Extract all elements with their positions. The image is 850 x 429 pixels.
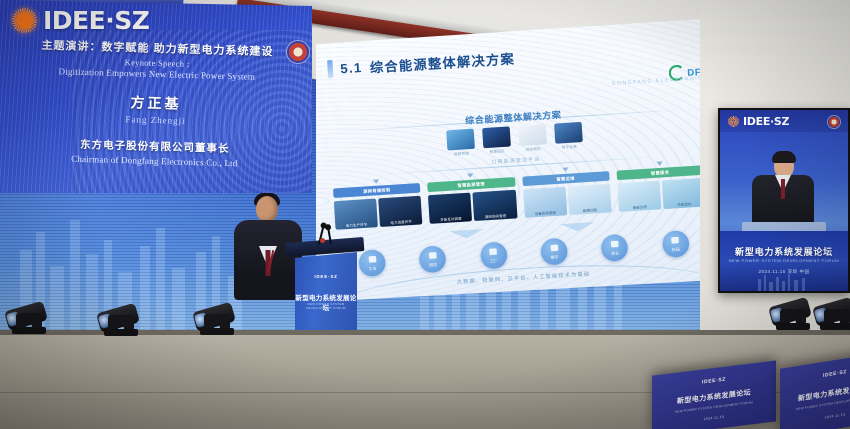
light-base: [776, 323, 810, 330]
scenario-circle: 工业: [358, 249, 386, 277]
arrow-up-icon: [562, 167, 569, 172]
speaker-suit: [752, 175, 814, 223]
thumbnail-image: [518, 124, 547, 146]
category-card: 故障诊断: [567, 184, 611, 215]
slide-thumbnail: 综合服务: [518, 124, 547, 152]
live-banner-title-en: NEW POWER SYSTEM DEVELOPMENT FORUM: [720, 258, 848, 263]
moving-head-light: [100, 302, 140, 336]
category-card: 源网协同管控: [473, 190, 517, 221]
light-base: [12, 327, 46, 334]
scenario-label: 园区: [420, 262, 447, 269]
light-base: [820, 323, 850, 330]
speaker-suit: [234, 220, 302, 300]
category-card: 用能分析: [617, 181, 661, 212]
card-label: 电力生产环节: [335, 221, 378, 229]
category-cards: 电力生产环节 电力消费环节: [334, 196, 423, 230]
light-base: [200, 328, 234, 335]
podium-title-en: NEW POWER SYSTEM DEVELOPMENT FORUM: [295, 302, 357, 310]
tower-icon: [550, 244, 558, 251]
slide-thumbnail: 数字运营: [554, 122, 583, 150]
speaker-head: [256, 196, 278, 222]
scenario-circle: 校园: [662, 230, 690, 258]
slide-thumbnail: 源网荷储: [446, 129, 475, 157]
scenario-label: 校园: [663, 247, 690, 254]
live-feed-screen: IDEE·SZ 主题演讲 数字赋能 助力新型电力系统建设: [720, 110, 848, 291]
scenario-label: 楼宇: [541, 254, 568, 261]
conference-photo-scene: IDEE·SZ 主题演讲：数字赋能 助力新型电力系统建设 Keynote Spe…: [0, 0, 850, 429]
category-card: 电力消费环节: [378, 196, 422, 227]
live-feed-speaker: [752, 154, 816, 223]
slide-section-number: 5.1: [340, 60, 363, 76]
slide-category-column: 智慧能源管理 多能互补调度 源网协同管控: [427, 171, 517, 224]
moving-head-light: [772, 296, 812, 330]
category-card: 设备状态感知: [523, 187, 567, 218]
live-banner-title-cn: 新型电力系统发展论坛: [720, 245, 848, 258]
live-feed-banner: 新型电力系统发展论坛 NEW POWER SYSTEM DEVELOPMENT …: [720, 231, 848, 291]
live-feed-monitor: IDEE·SZ 主题演讲 数字赋能 助力新型电力系统建设: [718, 108, 850, 293]
scenario-circle: 园区: [419, 245, 447, 273]
scenario-circle: 工厂: [480, 241, 508, 269]
national-emblem-icon: [827, 115, 841, 129]
shop-icon: [611, 241, 619, 248]
slide-category-column: 智慧运维 设备状态感知 故障诊断: [521, 165, 611, 218]
speaker-hair: [772, 151, 796, 163]
moving-head-light: [816, 296, 850, 330]
slide-thumbnail: 智慧园区: [482, 126, 511, 154]
forum-logo-text: IDEE·SZ: [43, 6, 149, 35]
card-label: 多能互补调度: [430, 215, 473, 223]
category-card: 电力生产环节: [334, 199, 378, 230]
arrow-up-icon: [467, 173, 474, 178]
scenario-circle: 楼宇: [540, 238, 568, 266]
moving-head-light: [8, 300, 48, 334]
category-cards: 多能互补调度 源网协同管控: [428, 190, 517, 224]
moving-head-light: [196, 301, 236, 335]
left-projection-screen: IDEE·SZ 主题演讲：数字赋能 助力新型电力系统建设 Keynote Spe…: [0, 0, 312, 193]
slide-category-column: 智慧服务 用能分析 节能优化: [616, 159, 706, 212]
keynote-title-block: 主题演讲：数字赋能 助力新型电力系统建设 Keynote Speech : Di…: [0, 36, 312, 171]
live-banner-date: 2024.11.15 深圳·中国: [720, 269, 848, 275]
light-base: [104, 329, 138, 336]
arrow-up-icon: [656, 161, 663, 166]
category-card: 多能互补调度: [428, 193, 472, 224]
forum-logo-left: IDEE·SZ: [12, 6, 149, 35]
thumbnail-image: [446, 129, 475, 151]
category-cards: 用能分析 节能优化: [617, 178, 706, 212]
microphone-indicator-light: [320, 238, 325, 243]
scenario-label: 工业: [359, 266, 386, 273]
plant-icon: [490, 248, 498, 255]
live-feed-logo-text: IDEE·SZ: [743, 115, 789, 128]
factory-icon: [368, 256, 376, 263]
banner-skyline-graphic: [754, 273, 814, 291]
category-cards: 设备状态感知 故障诊断: [523, 184, 612, 218]
national-emblem-icon: [286, 40, 310, 64]
arrow-up-icon: [373, 179, 380, 184]
building-icon: [429, 252, 437, 259]
slide-category-column: 源网荷储控制 电力生产环节 电力消费环节: [333, 177, 423, 230]
podium-logo-text: IDEE·SZ: [295, 274, 357, 279]
thumbnail-image: [482, 126, 511, 148]
dotted-globe-icon: [12, 8, 37, 33]
scenario-label: 商业: [602, 251, 629, 258]
main-presentation-screen: 5.1 综合能源整体解决方案 DFE DONGFANG ELECTRONICS …: [316, 18, 716, 302]
campus-icon: [671, 237, 679, 244]
slide-heading-marker-icon: [327, 60, 333, 78]
scenario-label: 工厂: [481, 258, 508, 265]
thumbnail-image: [554, 122, 583, 144]
speaker-tie: [781, 179, 785, 199]
dotted-globe-icon: [728, 116, 739, 127]
scenario-circle: 商业: [601, 234, 629, 262]
